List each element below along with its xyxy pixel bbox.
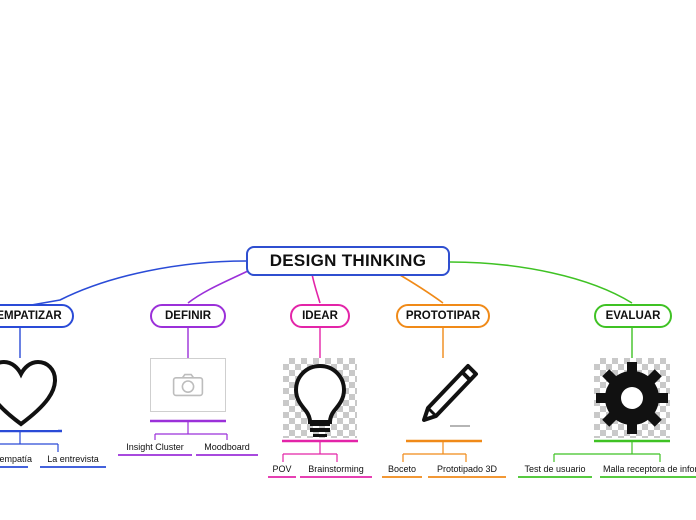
leaf-label-la-entrevista: La entrevista — [47, 454, 99, 464]
edge-evaluar-leaves — [554, 441, 660, 462]
leaf-label-mapa-empatia: Mapa de empatía — [0, 454, 32, 464]
lightbulb-icon — [283, 358, 357, 438]
leaf-node-prototipado-3d[interactable]: Prototipado 3D — [428, 462, 506, 476]
pencil-icon — [406, 358, 482, 438]
edge-root-prototipar — [395, 272, 443, 303]
leaf-label-boceto: Boceto — [388, 464, 416, 474]
leaf-node-brainstorming[interactable]: Brainstorming — [300, 462, 372, 476]
leaf-label-pov: POV — [272, 464, 291, 474]
leaf-node-malla-receptora[interactable]: Malla receptora de información — [600, 462, 696, 476]
edge-root-evaluar — [450, 262, 632, 303]
leaf-node-moodboard[interactable]: Moodboard — [196, 440, 258, 454]
mindmap-canvas: DESIGN THINKING EMPATIZAR Mapa de empatí… — [0, 0, 696, 520]
branch-label-definir: DEFINIR — [165, 310, 211, 322]
edge-definir-leaves — [155, 421, 227, 441]
leaf-node-test-de-usuario[interactable]: Test de usuario — [518, 462, 592, 476]
leaf-node-mapa-empatia[interactable]: Mapa de empatía — [0, 452, 28, 466]
edge-root-definir — [188, 270, 250, 303]
edge-root-empatizar — [20, 261, 246, 307]
leaf-node-la-entrevista[interactable]: La entrevista — [40, 452, 106, 466]
leaf-label-moodboard: Moodboard — [204, 442, 250, 452]
branch-label-empatizar: EMPATIZAR — [0, 310, 62, 322]
branch-node-idear[interactable]: IDEAR — [290, 304, 350, 328]
edge-empatizar-leaves — [0, 431, 58, 452]
branch-node-empatizar[interactable]: EMPATIZAR — [0, 304, 74, 328]
heart-icon — [0, 358, 58, 430]
leaf-node-boceto[interactable]: Boceto — [382, 462, 422, 476]
edge-root-idear — [312, 274, 320, 303]
leaf-label-test-de-usuario: Test de usuario — [524, 464, 585, 474]
leaf-node-insight-cluster[interactable]: Insight Cluster — [118, 440, 192, 454]
branch-label-evaluar: EVALUAR — [606, 310, 661, 322]
gear-icon — [594, 358, 670, 438]
edge-prototipar-leaves — [403, 441, 466, 462]
leaf-label-malla-receptora: Malla receptora de información — [603, 464, 696, 474]
leaf-label-insight-cluster: Insight Cluster — [126, 442, 184, 452]
branch-label-idear: IDEAR — [302, 310, 338, 322]
branch-node-evaluar[interactable]: EVALUAR — [594, 304, 672, 328]
edge-idear-leaves — [283, 441, 337, 462]
leaf-label-prototipado-3d: Prototipado 3D — [437, 464, 497, 474]
camera-icon — [150, 358, 226, 412]
root-label: DESIGN THINKING — [270, 251, 427, 271]
branch-node-prototipar[interactable]: PROTOTIPAR — [396, 304, 490, 328]
branch-node-definir[interactable]: DEFINIR — [150, 304, 226, 328]
root-node[interactable]: DESIGN THINKING — [246, 246, 450, 276]
branch-label-prototipar: PROTOTIPAR — [406, 310, 480, 322]
leaf-label-brainstorming: Brainstorming — [308, 464, 364, 474]
leaf-node-pov[interactable]: POV — [268, 462, 296, 476]
